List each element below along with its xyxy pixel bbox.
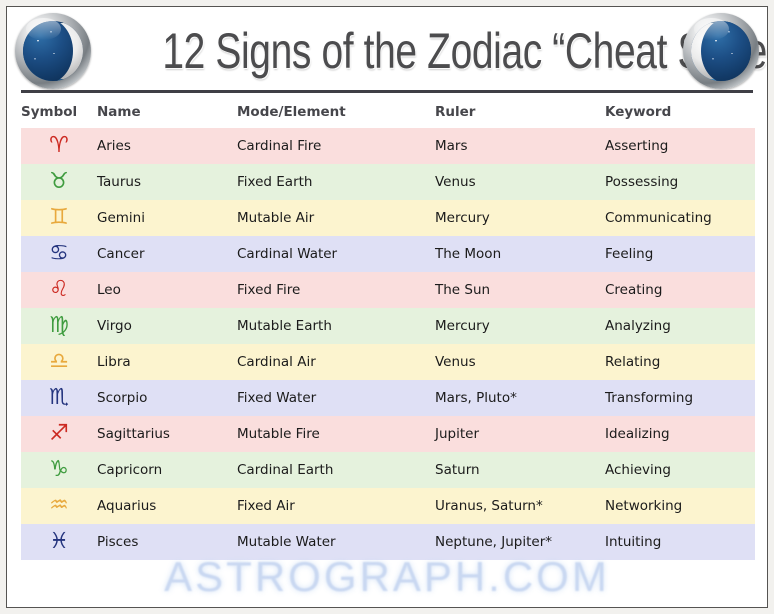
leo-glyph: ♌	[49, 279, 69, 301]
aquarius-glyph: ♒	[49, 495, 69, 517]
cell-symbol: ♎	[21, 344, 97, 380]
cell-ruler: Jupiter	[435, 416, 605, 452]
cell-keyword: Transforming	[605, 380, 755, 416]
cell-name: Leo	[97, 272, 237, 308]
header: 12 Signs of the Zodiac “Cheat Sheet”	[7, 7, 767, 95]
logo-highlight	[26, 18, 61, 41]
moon-logo-left-icon	[15, 13, 91, 89]
cell-symbol: ♊	[21, 200, 97, 236]
column-header-keyword: Keyword	[605, 95, 755, 128]
pisces-glyph: ♓	[49, 531, 69, 553]
cell-keyword: Networking	[605, 488, 755, 524]
cell-mode-element: Cardinal Water	[237, 236, 435, 272]
cell-mode-element: Fixed Air	[237, 488, 435, 524]
cell-ruler: Mars	[435, 128, 605, 164]
watermark-text: ASTROGRAPH.COM	[164, 553, 610, 601]
cell-name: Virgo	[97, 308, 237, 344]
cell-name: Sagittarius	[97, 416, 237, 452]
table-row: ♓PiscesMutable WaterNeptune, Jupiter*Int…	[21, 524, 755, 560]
aries-glyph: ♈	[49, 135, 69, 157]
table-row: ♎LibraCardinal AirVenusRelating	[21, 344, 755, 380]
table-row: ♑CapricornCardinal EarthSaturnAchieving	[21, 452, 755, 488]
table-row: ♐SagittariusMutable FireJupiterIdealizin…	[21, 416, 755, 452]
zodiac-table-wrap: Symbol Name Mode/Element Ruler Keyword ♈…	[21, 95, 753, 560]
cell-ruler: The Sun	[435, 272, 605, 308]
cell-mode-element: Cardinal Fire	[237, 128, 435, 164]
cell-name: Aquarius	[97, 488, 237, 524]
cell-keyword: Possessing	[605, 164, 755, 200]
cell-keyword: Creating	[605, 272, 755, 308]
cheat-sheet: 12 Signs of the Zodiac “Cheat Sheet”	[6, 6, 768, 608]
cell-mode-element: Mutable Earth	[237, 308, 435, 344]
cell-keyword: Relating	[605, 344, 755, 380]
table-row: ♊GeminiMutable AirMercuryCommunicating	[21, 200, 755, 236]
header-divider	[21, 90, 753, 93]
cell-symbol: ♈	[21, 128, 97, 164]
cell-keyword: Achieving	[605, 452, 755, 488]
cell-ruler: Venus	[435, 164, 605, 200]
cell-symbol: ♓	[21, 524, 97, 560]
cell-symbol: ♑	[21, 452, 97, 488]
table-body: ♈AriesCardinal FireMarsAsserting♉TaurusF…	[21, 128, 755, 560]
table-header: Symbol Name Mode/Element Ruler Keyword	[21, 95, 755, 128]
gemini-glyph: ♊	[49, 207, 69, 229]
scorpio-glyph: ♏	[49, 387, 69, 409]
cell-keyword: Feeling	[605, 236, 755, 272]
cell-ruler: Mars, Pluto*	[435, 380, 605, 416]
table-row: ♌LeoFixed FireThe SunCreating	[21, 272, 755, 308]
moon-logo-right-icon	[683, 13, 759, 89]
cell-mode-element: Mutable Fire	[237, 416, 435, 452]
cell-symbol: ♍	[21, 308, 97, 344]
cell-mode-element: Fixed Fire	[237, 272, 435, 308]
column-header-name: Name	[97, 95, 237, 128]
column-header-ruler: Ruler	[435, 95, 605, 128]
cell-ruler: Uranus, Saturn*	[435, 488, 605, 524]
cell-name: Libra	[97, 344, 237, 380]
cell-name: Capricorn	[97, 452, 237, 488]
cell-keyword: Analyzing	[605, 308, 755, 344]
table-row: ♋CancerCardinal WaterThe MoonFeeling	[21, 236, 755, 272]
cell-ruler: The Moon	[435, 236, 605, 272]
zodiac-table: Symbol Name Mode/Element Ruler Keyword ♈…	[21, 95, 755, 560]
cell-symbol: ♉	[21, 164, 97, 200]
sagittarius-glyph: ♐	[49, 423, 69, 445]
cell-mode-element: Fixed Earth	[237, 164, 435, 200]
cell-keyword: Idealizing	[605, 416, 755, 452]
cell-mode-element: Cardinal Earth	[237, 452, 435, 488]
cell-keyword: Intuiting	[605, 524, 755, 560]
cell-name: Cancer	[97, 236, 237, 272]
page-title: 12 Signs of the Zodiac “Cheat Sheet”	[162, 15, 611, 87]
capricorn-glyph: ♑	[49, 459, 69, 481]
virgo-glyph: ♍	[49, 315, 69, 337]
cell-symbol: ♌	[21, 272, 97, 308]
cell-keyword: Communicating	[605, 200, 755, 236]
cell-ruler: Mercury	[435, 308, 605, 344]
cell-keyword: Asserting	[605, 128, 755, 164]
cell-mode-element: Mutable Water	[237, 524, 435, 560]
cell-name: Aries	[97, 128, 237, 164]
logo-highlight	[694, 18, 729, 41]
cell-symbol: ♐	[21, 416, 97, 452]
cell-mode-element: Cardinal Air	[237, 344, 435, 380]
cell-ruler: Saturn	[435, 452, 605, 488]
cell-ruler: Neptune, Jupiter*	[435, 524, 605, 560]
cell-mode-element: Mutable Air	[237, 200, 435, 236]
cell-mode-element: Fixed Water	[237, 380, 435, 416]
column-header-mode-element: Mode/Element	[237, 95, 435, 128]
cell-ruler: Venus	[435, 344, 605, 380]
cell-ruler: Mercury	[435, 200, 605, 236]
cancer-glyph: ♋	[49, 243, 69, 265]
header-row: Symbol Name Mode/Element Ruler Keyword	[21, 95, 755, 128]
column-header-symbol: Symbol	[21, 95, 97, 128]
table-row: ♍VirgoMutable EarthMercuryAnalyzing	[21, 308, 755, 344]
libra-glyph: ♎	[49, 351, 69, 373]
cell-symbol: ♋	[21, 236, 97, 272]
table-row: ♉TaurusFixed EarthVenusPossessing	[21, 164, 755, 200]
table-row: ♒AquariusFixed AirUranus, Saturn*Network…	[21, 488, 755, 524]
cell-symbol: ♏	[21, 380, 97, 416]
taurus-glyph: ♉	[49, 171, 69, 193]
cell-symbol: ♒	[21, 488, 97, 524]
cell-name: Pisces	[97, 524, 237, 560]
cell-name: Gemini	[97, 200, 237, 236]
cell-name: Scorpio	[97, 380, 237, 416]
page-root: 12 Signs of the Zodiac “Cheat Sheet”	[0, 0, 774, 614]
cell-name: Taurus	[97, 164, 237, 200]
table-row: ♏ScorpioFixed WaterMars, Pluto*Transform…	[21, 380, 755, 416]
table-row: ♈AriesCardinal FireMarsAsserting	[21, 128, 755, 164]
